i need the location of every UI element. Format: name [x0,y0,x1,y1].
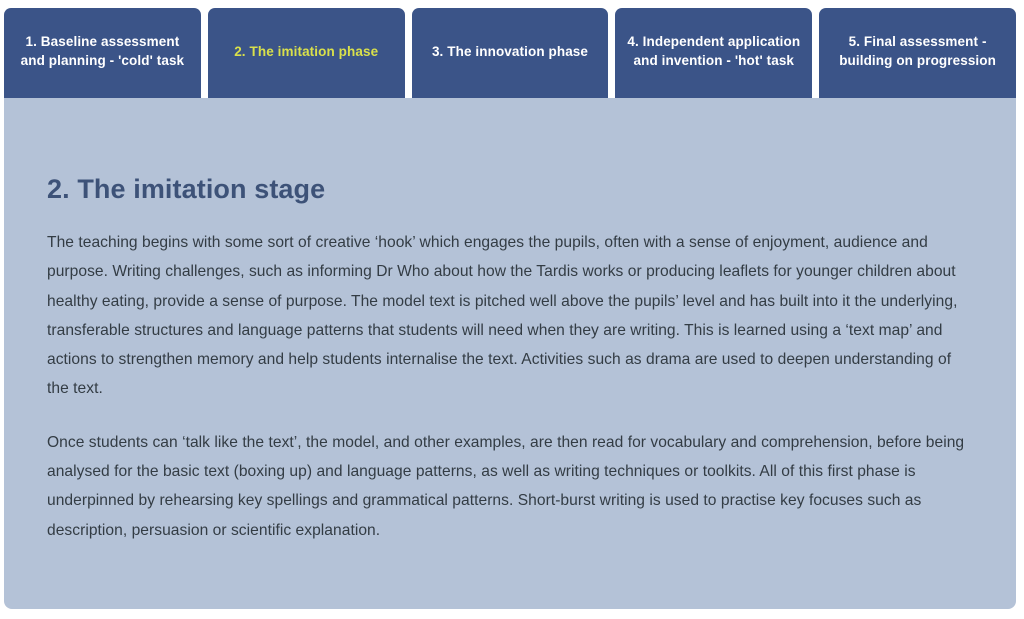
tab-label: 4. Independent application and invention… [625,32,802,70]
body-paragraph: Once students can ‘talk like the text’, … [47,428,976,545]
tab-label: 1. Baseline assessment and planning - 'c… [14,32,191,70]
tab-innovation-phase[interactable]: 3. The innovation phase [412,8,609,98]
tab-independent-application[interactable]: 4. Independent application and invention… [615,8,812,98]
tab-final-assessment[interactable]: 5. Final assessment - building on progre… [819,8,1016,98]
screen-root: 1. Baseline assessment and planning - 'c… [0,0,1024,619]
tab-content-inner: 2. The imitation stage The teaching begi… [4,98,1016,545]
tab-baseline-assessment[interactable]: 1. Baseline assessment and planning - 'c… [4,8,201,98]
tab-imitation-phase[interactable]: 2. The imitation phase [208,8,405,98]
body-paragraph: The teaching begins with some sort of cr… [47,228,976,404]
tab-strip: 1. Baseline assessment and planning - 'c… [4,8,1016,98]
tab-label: 2. The imitation phase [234,42,378,61]
tab-label: 3. The innovation phase [432,42,588,61]
tab-content-panel: 2. The imitation stage The teaching begi… [4,98,1016,609]
tab-label: 5. Final assessment - building on progre… [829,32,1006,70]
page-title: 2. The imitation stage [47,172,976,206]
